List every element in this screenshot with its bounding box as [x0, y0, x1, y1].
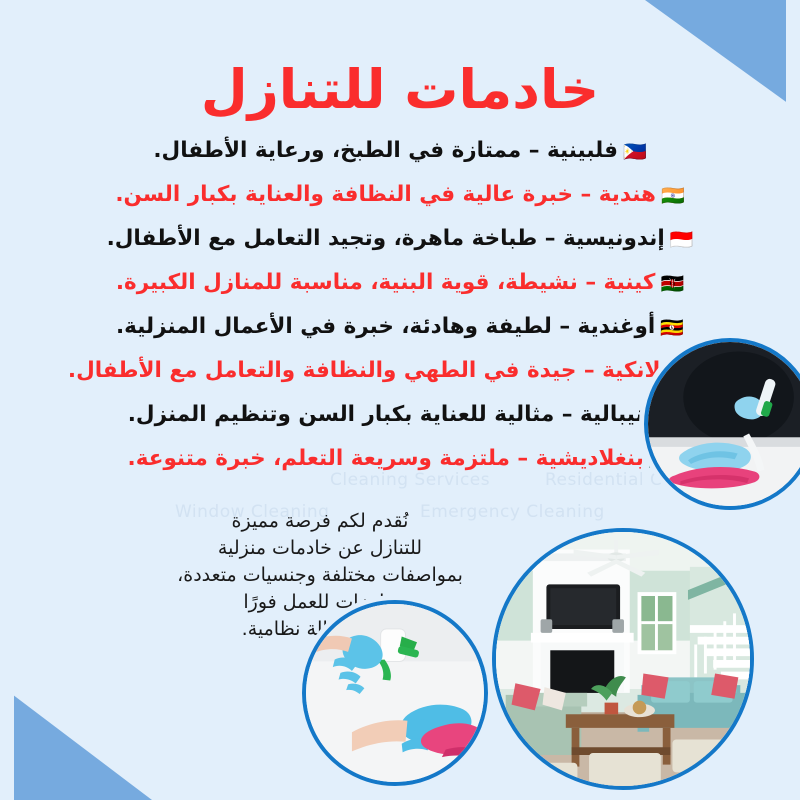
- living-room-interior-photo: [492, 528, 754, 790]
- list-item-label: هندية – خبرة عالية في النظافة والعناية ب…: [115, 182, 656, 207]
- blurb-line-3: بمواصفات مختلفة وجنسيات متعددة،: [170, 562, 470, 589]
- list-item: 🇺🇬أوغندية – لطيفة وهادئة، خبرة في الأعما…: [24, 316, 776, 338]
- list-item-label: بنغلاديشية – ملتزمة وسريعة التعلم، خبرة …: [128, 446, 644, 471]
- list-item-label: نيبالية – مثالية للعناية بكبار السن وتنظ…: [128, 402, 644, 427]
- list-item-label: كينية – نشيطة، قوية البنية، مناسبة للمنا…: [116, 270, 656, 295]
- philippines-flag: 🇵🇭: [623, 141, 647, 163]
- kenya-flag: 🇰🇪: [660, 273, 684, 295]
- list-item-label: أوغندية – لطيفة وهادئة، خبرة في الأعمال …: [116, 314, 655, 339]
- india-flag: 🇮🇳: [661, 185, 685, 207]
- list-item: 🇮🇩إندونيسية – طباخة ماهرة، وتجيد التعامل…: [24, 228, 776, 250]
- list-item: 🇰🇪كينية – نشيطة، قوية البنية، مناسبة للم…: [24, 272, 776, 294]
- left-edge-band: [0, 0, 14, 800]
- list-item-label: سريلانكية – جيدة في الطهي والنظافة والتع…: [68, 358, 704, 383]
- list-item-label: فلبينية – ممتازة في الطبخ، ورعاية الأطفا…: [153, 138, 618, 163]
- poster-canvas: Window Cleaning Emergency Cleaning Clean…: [0, 0, 800, 800]
- corner-accent-bottom-left: [0, 685, 152, 800]
- indonesia-flag: 🇮🇩: [670, 229, 694, 251]
- blurb-line-1: نُقدم لكم فرصة مميزة: [170, 508, 470, 535]
- list-item: 🇵🇭فلبينية – ممتازة في الطبخ، ورعاية الأط…: [24, 140, 776, 162]
- uganda-flag: 🇺🇬: [660, 317, 684, 339]
- page-title: خادمات للتنازل: [0, 62, 800, 119]
- list-item: 🇮🇳هندية – خبرة عالية في النظافة والعناية…: [24, 184, 776, 206]
- list-item-label: إندونيسية – طباخة ماهرة، وتجيد التعامل م…: [107, 226, 665, 251]
- blurb-line-2: للتنازل عن خادمات منزلية: [170, 535, 470, 562]
- gloved-hands-spray-bottle-photo: [302, 600, 488, 786]
